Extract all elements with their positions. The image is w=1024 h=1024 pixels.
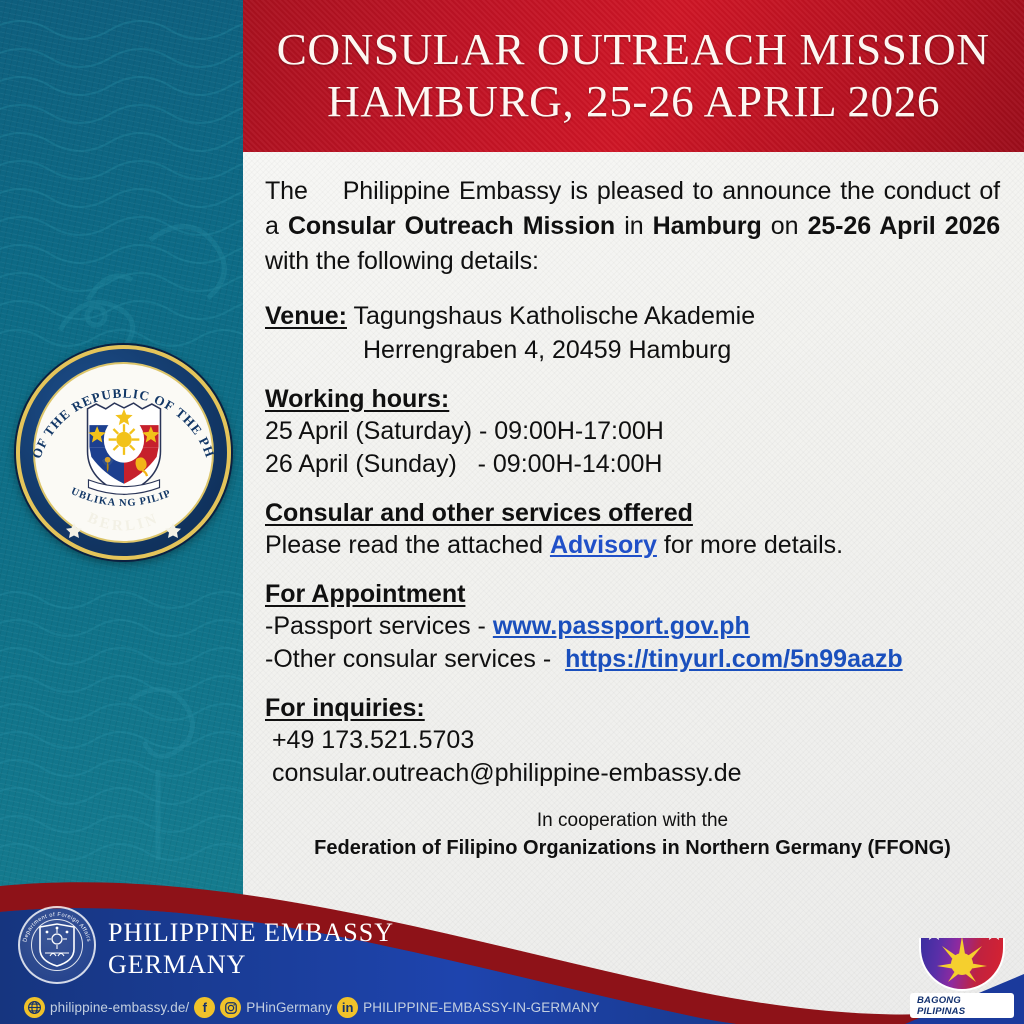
inquiries-heading: For inquiries: <box>265 692 425 724</box>
working-hours-heading: Working hours: <box>265 383 449 415</box>
header-title-line2: Hamburg, 25-26 April 2026 <box>327 76 940 128</box>
working-hours-row: 25 April (Saturday) - 09:00H-17:00H <box>265 415 1000 448</box>
cooperation-block: In cooperation with the Federation of Fi… <box>265 808 1000 862</box>
inquiries-email[interactable]: consular.outreach@philippine-embassy.de <box>265 757 1000 790</box>
services-text-before: Please read the attached <box>265 531 550 559</box>
working-hours-block: Working hours: 25 April (Saturday) - 09:… <box>265 383 1000 481</box>
seal-banner-text: REPUBLIKA NG PILIPINAS <box>16 345 231 560</box>
services-block: Consular and other services offered Plea… <box>265 497 1000 562</box>
embassy-seal: EMBASSY OF THE REPUBLIC OF THE PHILIPPIN… <box>16 345 231 560</box>
dfa-seal-ring-text: Department of Foreign Affairs <box>18 906 96 984</box>
inquiries-block: For inquiries: +49 173.521.5703 consular… <box>265 692 1000 790</box>
venue-block: Venue: Tagungshaus Katholische Akademie … <box>265 299 1000 367</box>
cooperation-line2: Federation of Filipino Organizations in … <box>265 834 1000 862</box>
services-text-after: for more details. <box>657 531 843 559</box>
website-label[interactable]: philippine-embassy.de/ <box>50 1000 189 1015</box>
intro-part4: on <box>762 212 808 240</box>
bagong-pilipinas-label: BAGONG PILIPINAS <box>910 993 1014 1018</box>
embassy-name-line1: Philippine Embassy <box>108 918 394 948</box>
venue-line1-text: Tagungshaus Katholische Akademie <box>347 302 755 330</box>
appointment-heading: For Appointment <box>265 578 465 610</box>
facebook-instagram-handle[interactable]: PHinGermany <box>246 1000 332 1015</box>
services-heading: Consular and other services offered <box>265 497 693 529</box>
cooperation-line1: In cooperation with the <box>265 808 1000 834</box>
tinyurl-link[interactable]: https://tinyurl.com/5n99aazb <box>565 645 903 673</box>
venue-line2-text: Herrengraben 4, 20459 Hamburg <box>265 333 1000 367</box>
three-stars-icon <box>921 938 1005 940</box>
globe-icon[interactable] <box>24 997 45 1018</box>
header-band: Consular Outreach Mission Hamburg, 25-26… <box>243 0 1024 152</box>
svg-text:Department of Foreign Affairs: Department of Foreign Affairs <box>22 912 91 943</box>
intro-bold-mission: Consular Outreach Mission <box>288 212 615 240</box>
linkedin-icon[interactable]: in <box>337 997 358 1018</box>
passport-label: -Passport services - <box>265 612 493 640</box>
working-hours-row: 26 April (Sunday) - 09:00H-14:00H <box>265 448 1000 481</box>
sunburst-icon <box>936 938 988 986</box>
footer-content: Department of Foreign Affairs Philippine… <box>0 894 1024 1024</box>
intro-part3: in <box>615 212 653 240</box>
passport-url-link[interactable]: www.passport.gov.ph <box>493 612 750 640</box>
embassy-name-line2: Germany <box>108 950 246 980</box>
appointment-block: For Appointment -Passport services - www… <box>265 578 1000 676</box>
facebook-icon[interactable]: f <box>194 997 215 1018</box>
poster-root: EMBASSY OF THE REPUBLIC OF THE PHILIPPIN… <box>0 0 1024 1024</box>
intro-part5: with the following details: <box>265 247 539 275</box>
bagong-pilipinas-logo: BAGONG PILIPINAS <box>910 938 1014 1018</box>
left-decorative-panel: EMBASSY OF THE REPUBLIC OF THE PHILIPPIN… <box>0 0 243 1024</box>
inquiries-phone[interactable]: +49 173.521.5703 <box>265 724 1000 757</box>
intro-paragraph: The Philippine Embassy is pleased to ann… <box>265 174 1000 279</box>
linkedin-handle[interactable]: PHILIPPINE-EMBASSY-IN-GERMANY <box>363 1000 599 1015</box>
svg-text:REPUBLIKA NG PILIPINAS: REPUBLIKA NG PILIPINAS <box>16 345 173 509</box>
other-services-label: -Other consular services - <box>265 645 565 673</box>
intro-bold-city: Hamburg <box>653 212 762 240</box>
advisory-link[interactable]: Advisory <box>550 531 657 559</box>
instagram-icon[interactable] <box>220 997 241 1018</box>
bagong-pilipinas-badge <box>919 938 1005 991</box>
social-links-row: philippine-embassy.de/ f PHinGermany in … <box>24 997 600 1018</box>
venue-heading: Venue: <box>265 300 347 332</box>
intro-part1: The <box>265 177 317 205</box>
intro-bold-date: 25-26 April 2026 <box>808 212 1000 240</box>
header-title-line1: Consular Outreach Mission <box>277 24 990 76</box>
